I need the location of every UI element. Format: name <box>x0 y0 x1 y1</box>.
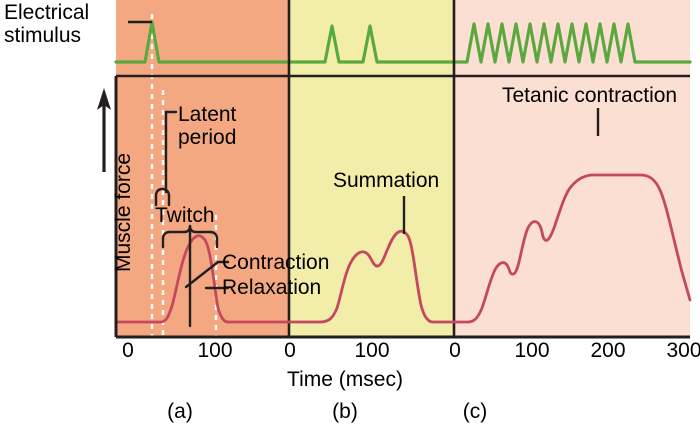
figure-canvas <box>0 0 700 430</box>
x-tick-label: 100 <box>354 339 389 363</box>
x-tick-label: 200 <box>590 339 625 363</box>
muscle-force-figure: Electrical stimulus Muscle force Time (m… <box>0 0 700 430</box>
contraction-annotation: Contraction <box>222 252 329 275</box>
muscle-force-arrow <box>97 88 111 172</box>
x-tick-label: 100 <box>514 339 549 363</box>
summation-annotation: Summation <box>333 170 439 193</box>
panel-label-a: (a) <box>167 400 193 424</box>
latent-period-annotation: Latent period <box>178 104 236 149</box>
x-tick-label: 0 <box>284 339 296 363</box>
tetanic-contraction-annotation: Tetanic contraction <box>502 85 677 108</box>
twitch-annotation: Twitch <box>155 205 215 228</box>
panel-label-b: (b) <box>332 400 358 424</box>
x-tick-label: 300 <box>666 339 700 363</box>
y-axis-label: Muscle force <box>112 153 136 272</box>
relaxation-annotation: Relaxation <box>222 277 321 300</box>
panel-label-c: (c) <box>463 400 488 424</box>
x-tick-label: 0 <box>122 339 134 363</box>
x-tick-label: 100 <box>197 339 232 363</box>
x-axis-label: Time (msec) <box>287 369 403 392</box>
x-tick-label: 0 <box>449 339 461 363</box>
electrical-stimulus-label: Electrical stimulus <box>4 2 89 47</box>
